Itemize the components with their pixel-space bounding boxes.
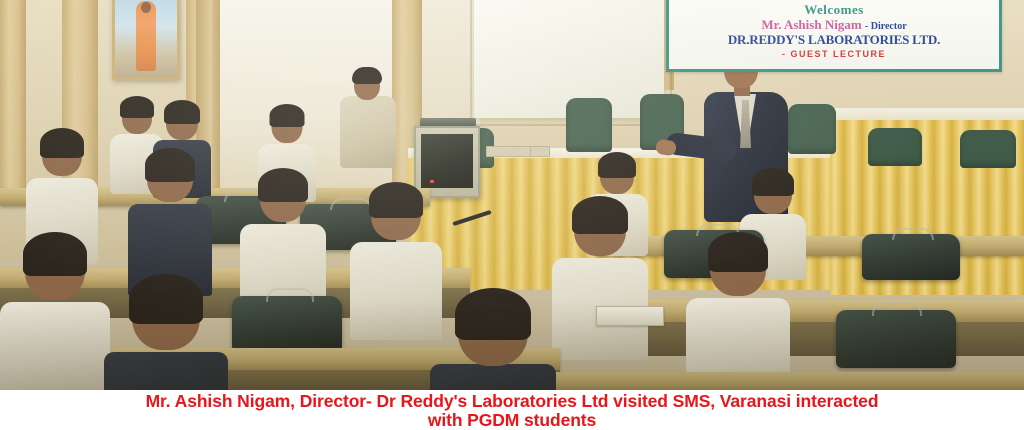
wall-portrait-frame	[112, 0, 180, 80]
laptop-bag	[862, 234, 960, 280]
av-rack-power-led	[430, 180, 434, 183]
stage-chair	[566, 98, 612, 152]
student-hair	[258, 168, 308, 202]
student-hair	[164, 100, 200, 124]
banner-guest-name: Mr. Ashish Nigam - Director	[669, 17, 999, 34]
seated-man-light-shirt	[334, 70, 404, 180]
student-hair	[572, 196, 628, 234]
banner-guest-name-text: Mr. Ashish Nigam	[761, 17, 861, 32]
student-hair	[145, 148, 195, 182]
stage-chair	[960, 130, 1016, 168]
student-hair	[120, 96, 154, 118]
student-hair	[369, 182, 423, 218]
photo-with-caption-page: Welcomes Mr. Ashish Nigam - Director DR.…	[0, 0, 1024, 430]
wall-portrait-image	[115, 0, 177, 77]
banner-event-text: - GUEST LECTURE	[669, 48, 999, 61]
student-hair	[598, 152, 636, 178]
student-hair	[752, 168, 794, 196]
welcome-banner: Welcomes Mr. Ashish Nigam - Director DR.…	[666, 0, 1002, 72]
seated-man-hair	[352, 67, 382, 84]
caption-line-2: with PGDM students	[0, 411, 1024, 430]
student-figure	[128, 152, 212, 292]
caption-line-1: Mr. Ashish Nigam, Director- Dr Reddy's L…	[0, 392, 1024, 411]
floor-shadow	[0, 300, 1024, 390]
wall-power-socket	[486, 146, 532, 157]
event-photograph: Welcomes Mr. Ashish Nigam - Director DR.…	[0, 0, 1024, 390]
stage-chair	[868, 128, 922, 166]
av-rack-glass-door	[421, 134, 473, 188]
laptop-bag-handle	[892, 228, 934, 240]
banner-guest-role-text: - Director	[865, 21, 907, 32]
banner-welcomes-text: Welcomes	[669, 3, 999, 17]
student-hair	[708, 232, 768, 272]
photo-caption: Mr. Ashish Nigam, Director- Dr Reddy's L…	[0, 390, 1024, 430]
wall-pilaster	[0, 0, 26, 200]
student-hair	[270, 104, 305, 127]
portrait-figure-head	[141, 2, 151, 13]
student-hair	[23, 232, 87, 276]
student-hair	[40, 128, 84, 158]
wall-power-socket	[530, 146, 550, 157]
seated-man-body	[340, 96, 396, 168]
banner-company-text: DR.REDDY'S LABORATORIES LTD.	[669, 33, 999, 48]
